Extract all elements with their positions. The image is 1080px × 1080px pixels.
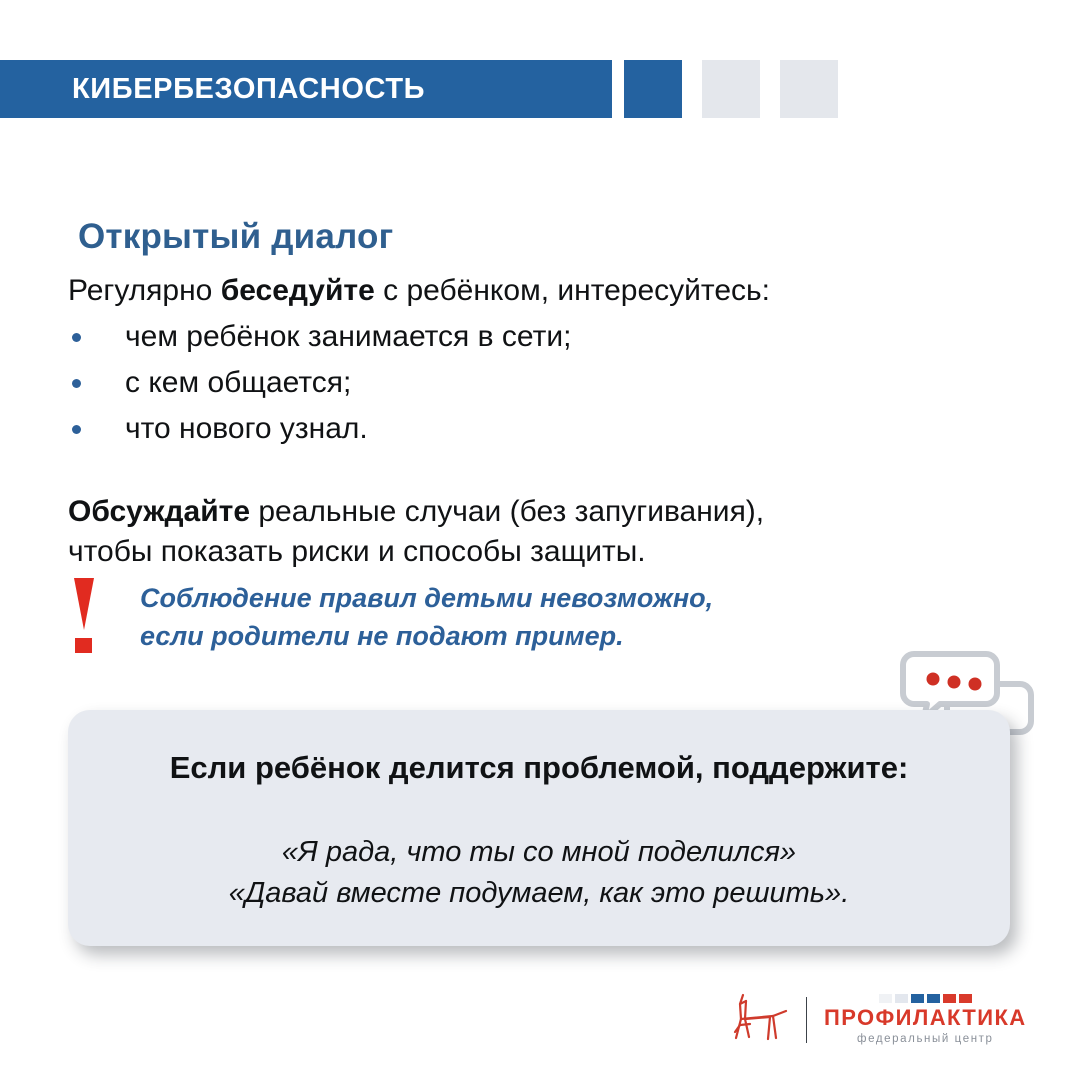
list-item: с кем общается; — [68, 360, 968, 406]
bubble-dot-2 — [948, 676, 961, 689]
quote-line-2: «Давай вместе подумаем, как это решить». — [68, 873, 1010, 914]
page-title: КИБЕРБЕЗОПАСНОСТЬ — [0, 73, 425, 106]
quote-line-1: «Я рада, что ты со мной поделился» — [68, 832, 1010, 873]
exclamation-stem — [74, 578, 94, 630]
intro-lead-bold: беседуйте — [221, 274, 375, 307]
exclamation-mark-icon — [68, 578, 118, 652]
warning-line-1: Соблюдение правил детьми невозможно, — [140, 579, 713, 617]
logo-subtitle: федеральный центр — [857, 1034, 994, 1046]
exclamation-dot — [75, 638, 92, 653]
warning-line-2: если родители не подают пример. — [140, 617, 713, 655]
header-accent-block-3 — [780, 60, 838, 118]
header-spacer — [612, 60, 624, 118]
list-item: чем ребёнок занимается в сети; — [68, 314, 968, 360]
support-card-quotes: «Я рада, что ты со мной поделился» «Дава… — [68, 832, 1010, 914]
discuss-line-2: чтобы показать риски и способы защиты. — [68, 532, 988, 572]
logo-divider — [806, 997, 807, 1043]
bubble-dot-1 — [927, 673, 940, 686]
intro-block: Регулярно беседуйте с ребёнком, интересу… — [68, 272, 968, 451]
warning-callout: Соблюдение правил детьми невозможно, есл… — [68, 578, 988, 656]
header-accent-block-2 — [702, 60, 760, 118]
discuss-line-1: Обсуждайте реальные случаи (без запугива… — [68, 492, 988, 532]
header-accent-block-1 — [624, 60, 682, 118]
logo-square-2 — [895, 994, 908, 1003]
intro-bullet-list: чем ребёнок занимается в сети; с кем общ… — [68, 314, 968, 451]
logo-wordmark: ПРОФИЛАКТИКА федеральный центр — [824, 994, 1027, 1046]
intro-lead-suffix: с ребёнком, интересуйтесь: — [375, 274, 770, 307]
logo-square-1 — [879, 994, 892, 1003]
intro-lead: Регулярно беседуйте с ребёнком, интересу… — [68, 272, 968, 310]
header-spacer — [682, 60, 702, 118]
logo-square-row — [879, 994, 972, 1003]
support-card-heading: Если ребёнок делится проблемой, поддержи… — [68, 750, 1010, 786]
discuss-bold-lead: Обсуждайте — [68, 495, 250, 528]
header-title-bar: КИБЕРБЕЗОПАСНОСТЬ — [0, 60, 612, 118]
header-spacer — [760, 60, 780, 118]
intro-lead-prefix: Регулярно — [68, 274, 221, 307]
bubble-dot-3 — [969, 678, 982, 691]
logo-square-6 — [959, 994, 972, 1003]
logo-square-5 — [943, 994, 956, 1003]
logo-square-3 — [911, 994, 924, 1003]
logo-square-4 — [927, 994, 940, 1003]
warning-text: Соблюдение правил детьми невозможно, есл… — [140, 578, 713, 656]
list-item: что нового узнал. — [68, 406, 968, 452]
footer-logo: ПРОФИЛАКТИКА федеральный центр — [726, 988, 1016, 1052]
page-header: КИБЕРБЕЗОПАСНОСТЬ — [0, 60, 1080, 118]
logo-name: ПРОФИЛАКТИКА — [824, 1007, 1027, 1029]
discuss-paragraph: Обсуждайте реальные случаи (без запугива… — [68, 492, 988, 572]
section-heading: Открытый диалог — [78, 217, 393, 257]
support-card: Если ребёнок делится проблемой, поддержи… — [68, 710, 1010, 946]
deer-line-art-icon — [726, 992, 792, 1048]
discuss-line-1-rest: реальные случаи (без запугивания), — [250, 495, 764, 528]
